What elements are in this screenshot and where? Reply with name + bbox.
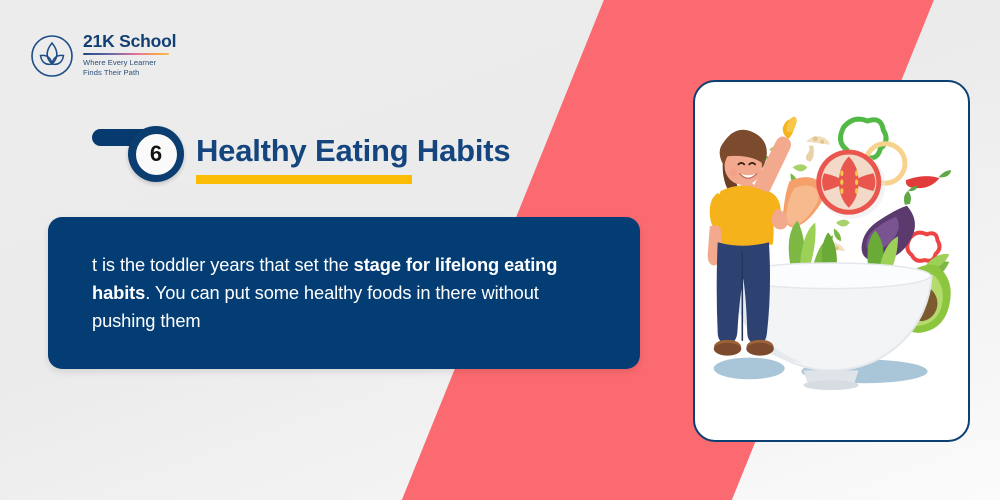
lotus-circle-icon xyxy=(30,34,74,78)
brand-tagline: Where Every Learner Finds Their Path xyxy=(83,58,176,78)
woman-with-vegetable-bowl-illustration xyxy=(695,82,968,440)
brand-name: 21K School xyxy=(83,33,176,51)
badge-circle: 6 xyxy=(128,126,184,182)
description-lead: t is the toddler years that set the xyxy=(92,254,354,275)
chili-pepper xyxy=(906,170,951,188)
brand-tagline-line-1: Where Every Learner xyxy=(83,58,156,67)
illustration-card xyxy=(693,80,970,442)
mushroom xyxy=(806,136,830,161)
brand-tagline-line-2: Finds Their Path xyxy=(83,68,139,77)
brand-logo-text: 21K School Where Every Learner Finds The… xyxy=(83,33,176,78)
woman-shadow xyxy=(714,358,785,380)
section-number-badge: 6 xyxy=(92,126,188,182)
slide-canvas: 21K School Where Every Learner Finds The… xyxy=(0,0,1000,500)
description-tail: . You can put some healthy foods in ther… xyxy=(92,282,539,331)
section-number: 6 xyxy=(150,143,162,165)
section-title: Healthy Eating Habits xyxy=(196,133,510,169)
red-bell-pepper-ring xyxy=(907,233,939,261)
description-card: t is the toddler years that set the stag… xyxy=(48,217,640,369)
badge-inner-circle: 6 xyxy=(136,134,177,175)
brand-logo[interactable]: 21K School Where Every Learner Finds The… xyxy=(30,33,176,78)
brand-underline-gradient xyxy=(83,53,169,56)
tomato-slice xyxy=(816,150,885,219)
title-underline-accent xyxy=(196,175,412,184)
description-text: t is the toddler years that set the stag… xyxy=(48,251,640,334)
